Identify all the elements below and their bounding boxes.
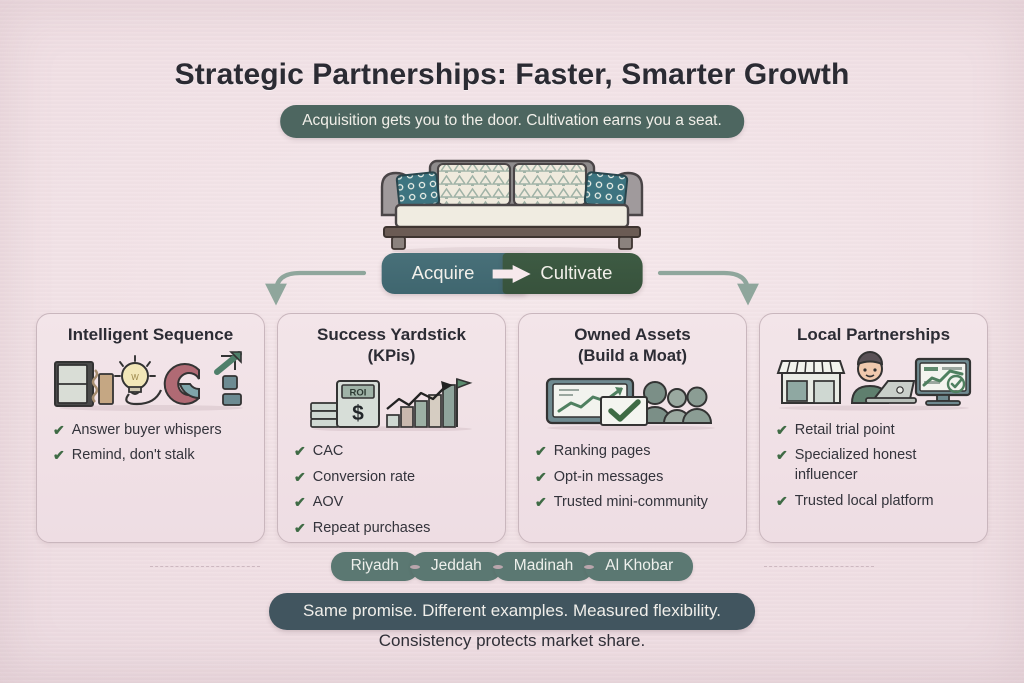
list-item: ✔ Conversion rate <box>294 468 493 488</box>
city-chip-al-khobar[interactable]: Al Khobar <box>585 552 693 581</box>
list-item: ✔ Remind, don't stalk <box>53 446 252 466</box>
check-icon: ✔ <box>776 421 788 440</box>
card-intelligent-sequence[interactable]: Intelligent Sequence W <box>36 313 265 543</box>
svg-text:$: $ <box>352 402 364 425</box>
chip-separator-dot <box>493 565 503 569</box>
footer-banner: Same promise. Different examples. Measur… <box>269 593 755 630</box>
city-chip-jeddah[interactable]: Jeddah <box>411 552 502 581</box>
list-item: ✔ Repeat purchases <box>294 519 493 539</box>
city-chip-madinah[interactable]: Madinah <box>494 552 593 581</box>
list-item: ✔ Retail trial point <box>776 421 975 441</box>
check-icon: ✔ <box>294 468 306 487</box>
right-arrow-icon <box>489 263 535 285</box>
check-icon: ✔ <box>294 519 306 538</box>
list-item: ✔ AOV <box>294 493 493 513</box>
check-icon: ✔ <box>294 442 306 461</box>
list-item: ✔ CAC <box>294 442 493 462</box>
pillar-cards: Intelligent Sequence W <box>36 313 988 543</box>
city-chip-riyadh[interactable]: Riyadh <box>331 552 419 581</box>
list-item: ✔ Trusted local platform <box>776 492 975 512</box>
card-bullet-list: ✔ Ranking pages ✔ Opt-in messages ✔ Trus… <box>531 442 734 513</box>
svg-text:W: W <box>131 373 139 382</box>
svg-text:ROI: ROI <box>349 387 366 398</box>
sofa-illustration <box>362 147 662 257</box>
check-icon: ✔ <box>53 446 65 465</box>
card-local-partnerships[interactable]: Local Partnerships <box>759 313 988 543</box>
card-owned-assets[interactable]: Owned Assets (Build a Moat) <box>518 313 747 543</box>
storefront-person-monitor-icon <box>772 349 975 413</box>
roi-calculator-bar-chart-icon: ROI $ <box>290 370 493 434</box>
check-icon: ✔ <box>535 493 547 512</box>
city-chip-row: Riyadh Jeddah Madinah Al Khobar <box>0 552 1024 581</box>
list-item: ✔ Answer buyer whispers <box>53 421 252 441</box>
stage-flow: Acquire Cultivate <box>382 253 643 294</box>
check-icon: ✔ <box>535 468 547 487</box>
card-bullet-list: ✔ CAC ✔ Conversion rate ✔ AOV ✔ Repeat p… <box>290 442 493 539</box>
card-title: Success Yardstick (KPis) <box>290 324 493 367</box>
list-item: ✔ Ranking pages <box>535 442 734 462</box>
list-item: ✔ Specialized honest influencer <box>776 446 975 485</box>
card-title: Owned Assets (Build a Moat) <box>531 324 734 367</box>
card-title: Local Partnerships <box>772 324 975 346</box>
check-icon: ✔ <box>294 493 306 512</box>
check-icon: ✔ <box>53 421 65 440</box>
list-item: ✔ Opt-in messages <box>535 468 734 488</box>
infographic-canvas: Strategic Partnerships: Faster, Smarter … <box>0 0 1024 683</box>
chip-separator-dot <box>584 565 594 569</box>
list-item: ✔ Trusted mini-community <box>535 493 734 513</box>
check-icon: ✔ <box>535 442 547 461</box>
subtitle-banner: Acquisition gets you to the door. Cultiv… <box>280 105 744 138</box>
check-icon: ✔ <box>776 492 788 511</box>
card-success-yardstick[interactable]: Success Yardstick (KPis) ROI $ <box>277 313 506 543</box>
tablet-chart-people-icon <box>531 370 734 434</box>
chip-separator-dot <box>410 565 420 569</box>
card-title: Intelligent Sequence <box>49 324 252 346</box>
page-title: Strategic Partnerships: Faster, Smarter … <box>0 58 1024 92</box>
footer-caption: Consistency protects market share. <box>0 631 1024 651</box>
card-bullet-list: ✔ Retail trial point ✔ Specialized hones… <box>772 421 975 512</box>
lightbulb-magnet-door-icon: W <box>49 349 252 413</box>
card-bullet-list: ✔ Answer buyer whispers ✔ Remind, don't … <box>49 421 252 466</box>
check-icon: ✔ <box>776 446 788 465</box>
